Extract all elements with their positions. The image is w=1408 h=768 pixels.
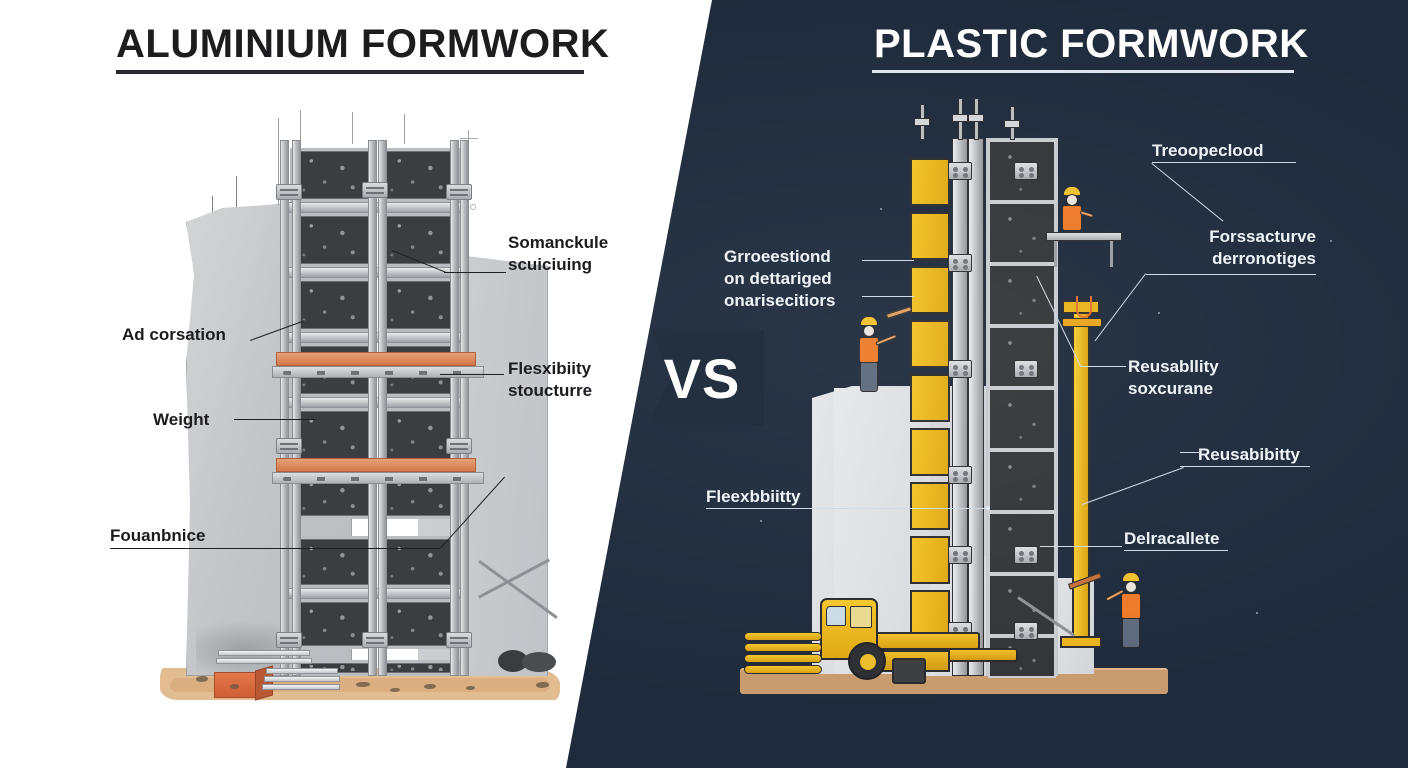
vs-divider-label: VS: [618, 330, 764, 426]
yellow-prop-jack: [1072, 308, 1090, 644]
leader-line: [862, 260, 914, 261]
formwork-panel: [290, 408, 374, 462]
tie-nut: [1004, 120, 1020, 128]
dot-mark: [470, 204, 476, 210]
leader-line: [1124, 550, 1228, 551]
tie-nut: [952, 114, 968, 122]
formwork-panel: [290, 278, 374, 332]
worker-pointing-mid: [842, 316, 888, 400]
worker-legs: [1122, 618, 1140, 648]
pipe: [744, 632, 822, 641]
leader-endpoint: [986, 506, 990, 510]
plastic-panel-yellow: [910, 158, 950, 206]
worker-legs: [860, 362, 878, 392]
formwork-clamp: [1014, 546, 1038, 564]
plastic-panel-yellow: [910, 482, 950, 530]
formwork-rail: [288, 588, 376, 599]
guide-line: [300, 110, 301, 144]
plastic-panel-yellow: [910, 374, 950, 422]
worker-head: [1125, 581, 1137, 593]
formwork-clamp: [362, 632, 388, 648]
worker-on-platform: [1058, 186, 1088, 234]
worker-vest: [1121, 593, 1141, 619]
pipe: [744, 643, 822, 652]
formwork-clamp: [276, 184, 302, 200]
truck-wheel: [848, 642, 886, 680]
formwork-cell: [988, 388, 1056, 450]
formwork-clamp: [276, 632, 302, 648]
worker-pointing-bottom: [1100, 572, 1148, 668]
walkway-deck-upper: [272, 366, 484, 378]
speck: [760, 520, 762, 522]
leader-line: [1151, 163, 1223, 222]
truck-window: [826, 606, 846, 626]
formwork-post: [460, 140, 469, 676]
formwork-rail: [288, 397, 376, 408]
panel-stack-plate: [218, 650, 310, 656]
panel-stack-plate: [216, 658, 312, 664]
aluminium-formwork-tower: [286, 140, 462, 676]
panel-stack-plate: [264, 676, 340, 682]
speck: [1330, 240, 1332, 242]
leader-line: [1180, 452, 1200, 453]
formwork-rail: [288, 267, 376, 278]
lifting-hook-icon: [1076, 296, 1092, 318]
page-title-aluminium: ALUMINIUM FORMWORK: [116, 22, 609, 67]
pipe: [744, 665, 822, 674]
leader-line: [440, 374, 504, 375]
formwork-post: [378, 140, 387, 676]
formwork-cell: [988, 326, 1056, 388]
callout-label-somanckule-scuiciuing: Somanckule scuiciuing: [508, 232, 668, 276]
scaffold-leg: [1054, 241, 1057, 267]
tire-debris: [522, 652, 556, 672]
formwork-clamp: [1014, 162, 1038, 180]
plastic-panel-yellow: [910, 428, 950, 476]
truck-boom-extension: [938, 648, 1018, 662]
callout-label-forssacturve: Forssacturve derronotiges: [1144, 226, 1316, 270]
title-underline-right: [872, 70, 1294, 73]
leader-line: [1082, 467, 1184, 505]
infographic-canvas: ALUMINIUM FORMWORK Ad corsation Weight F…: [0, 0, 1408, 768]
timber-walkway-lower: [276, 458, 476, 472]
title-underline-left: [116, 70, 584, 74]
formwork-clamp: [1014, 360, 1038, 378]
formwork-cell: [988, 450, 1056, 512]
plastic-panel-yellow: [910, 320, 950, 368]
leader-line: [110, 548, 440, 549]
formwork-clamp: [948, 546, 972, 564]
panel-stack-plate: [266, 668, 338, 674]
formwork-post: [368, 140, 377, 676]
timber-walkway-upper: [276, 352, 476, 366]
leader-line: [706, 508, 988, 509]
worker-vest: [1062, 205, 1082, 231]
formwork-cell: [988, 512, 1056, 574]
yellow-pipe-stack: [744, 632, 822, 676]
formwork-rail: [288, 202, 376, 213]
plastic-panel-yellow: [910, 266, 950, 314]
leader-line: [444, 272, 506, 273]
wrench-icon: [1062, 318, 1102, 327]
callout-label-reusabllity-soxcurane: Reusabllity soxcurane: [1128, 356, 1308, 400]
formwork-delivery-truck: [820, 598, 1020, 678]
formwork-spine: [968, 138, 984, 676]
formwork-post: [292, 140, 301, 676]
plastic-panel-yellow: [910, 536, 950, 584]
leader-line: [1152, 162, 1296, 163]
callout-label-fleexbbiitty: Fleexbbiitty: [706, 486, 836, 508]
worker-head: [863, 325, 875, 337]
pipe: [744, 654, 822, 663]
truck-hydraulic-block: [892, 658, 926, 684]
formwork-post: [450, 140, 459, 676]
tie-nut: [968, 114, 984, 122]
leader-line: [1080, 366, 1126, 367]
callout-label-fouanbnice: Fouanbnice: [110, 525, 260, 547]
plastic-panel-yellow: [910, 212, 950, 260]
plastic-formwork-tower: [906, 122, 1042, 676]
prop-base-plate: [1060, 636, 1102, 648]
panel-stack-plate: [262, 684, 340, 690]
formwork-clamp: [362, 182, 388, 198]
callout-label-reusabibitty: Reusabibitty: [1198, 444, 1348, 466]
tie-nut: [914, 118, 930, 126]
formwork-clamp: [446, 184, 472, 200]
formwork-column-left: [290, 140, 374, 676]
page-title-plastic: PLASTIC FORMWORK: [874, 22, 1309, 67]
speck: [880, 208, 882, 210]
callout-label-grroeestiond: Grroeestiond on dettariged onarisecitior…: [724, 246, 874, 311]
walkway-deck-lower: [272, 472, 484, 484]
truck-window: [850, 606, 872, 628]
formwork-clamp: [948, 466, 972, 484]
scaffold-leg: [1110, 241, 1113, 267]
formwork-panel: [290, 213, 374, 267]
formwork-post: [280, 140, 289, 676]
formwork-grid-column: [986, 138, 1058, 676]
leader-line: [1146, 274, 1316, 275]
formwork-clamp: [948, 360, 972, 378]
leader-line: [862, 296, 914, 297]
leader-line: [1095, 273, 1146, 341]
speck: [1256, 612, 1258, 614]
formwork-clamp: [446, 632, 472, 648]
callout-label-treoopeclood: Treoopeclood: [1152, 140, 1322, 162]
leader-line: [234, 419, 316, 420]
formwork-panel: [290, 536, 374, 588]
callout-label-delracallete: Delracallete: [1124, 528, 1274, 550]
formwork-clamp: [948, 162, 972, 180]
speck: [1158, 312, 1160, 314]
formwork-clamp: [948, 254, 972, 272]
worker-arm: [875, 334, 897, 346]
formwork-spine: [952, 138, 968, 676]
leader-line: [1040, 546, 1122, 547]
callout-label-ad-corsation: Ad corsation: [122, 324, 302, 346]
formwork-clamp: [276, 438, 302, 454]
leader-line: [1180, 466, 1310, 467]
formwork-clamp: [446, 438, 472, 454]
